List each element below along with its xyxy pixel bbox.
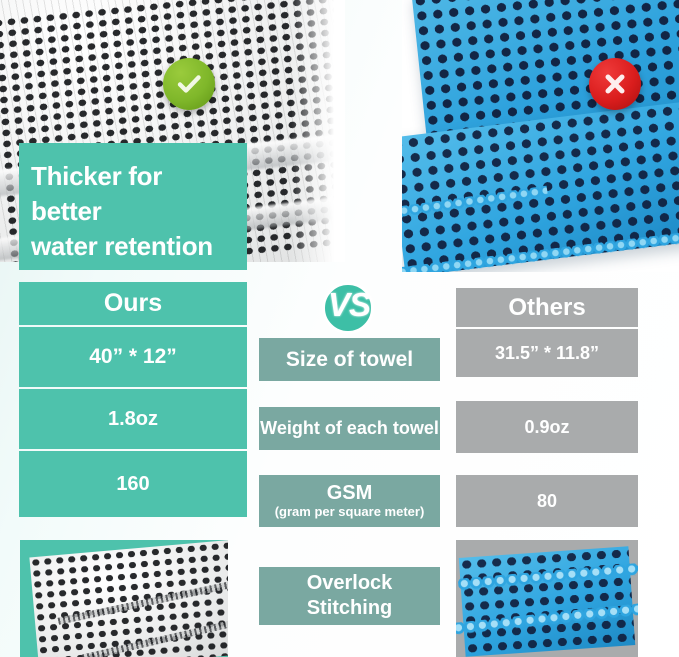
vs-label: VS xyxy=(318,288,380,321)
others-value-size: 31.5” * 11.8” xyxy=(456,329,638,377)
others-value-weight: 0.9oz xyxy=(456,401,638,453)
row-label-weight: Weight of each towel xyxy=(259,407,440,450)
row-label-stitching-line-1: Overlock xyxy=(307,571,393,596)
others-column-header: Others xyxy=(456,288,638,327)
headline-line-1: Thicker for better xyxy=(31,159,239,229)
row-label-size: Size of towel xyxy=(259,338,440,381)
row-label-gsm: GSM (gram per square meter) xyxy=(259,475,440,527)
headline-banner: Thicker for better water retention xyxy=(19,143,247,270)
photo-others-towel-top xyxy=(402,0,679,272)
row-label-gsm-title: GSM xyxy=(327,482,373,505)
fabric-dot-pattern xyxy=(29,540,228,657)
photo-edge-fade xyxy=(291,0,345,262)
infographic-canvas: Thicker for better water retention VS Ou… xyxy=(0,0,679,657)
photo-ours-stitching xyxy=(20,540,228,657)
row-label-gsm-subtitle: (gram per square meter) xyxy=(275,505,425,520)
fabric-texture xyxy=(29,540,228,657)
cross-badge-icon xyxy=(589,58,641,110)
photo-others-stitching xyxy=(456,540,638,657)
fabric-texture xyxy=(459,546,635,657)
ours-value-weight: 1.8oz xyxy=(19,389,247,449)
ours-value-size: 40” * 12” xyxy=(19,327,247,387)
headline-line-2: water retention xyxy=(31,229,239,264)
row-label-stitching: Overlock Stitching xyxy=(259,567,440,625)
others-value-gsm: 80 xyxy=(456,475,638,527)
ours-column-header: Ours xyxy=(19,282,247,325)
row-label-stitching-line-2: Stitching xyxy=(307,596,393,621)
check-badge-icon xyxy=(163,58,215,110)
ours-value-gsm: 160 xyxy=(19,451,247,517)
fabric-dot-pattern xyxy=(459,546,635,657)
